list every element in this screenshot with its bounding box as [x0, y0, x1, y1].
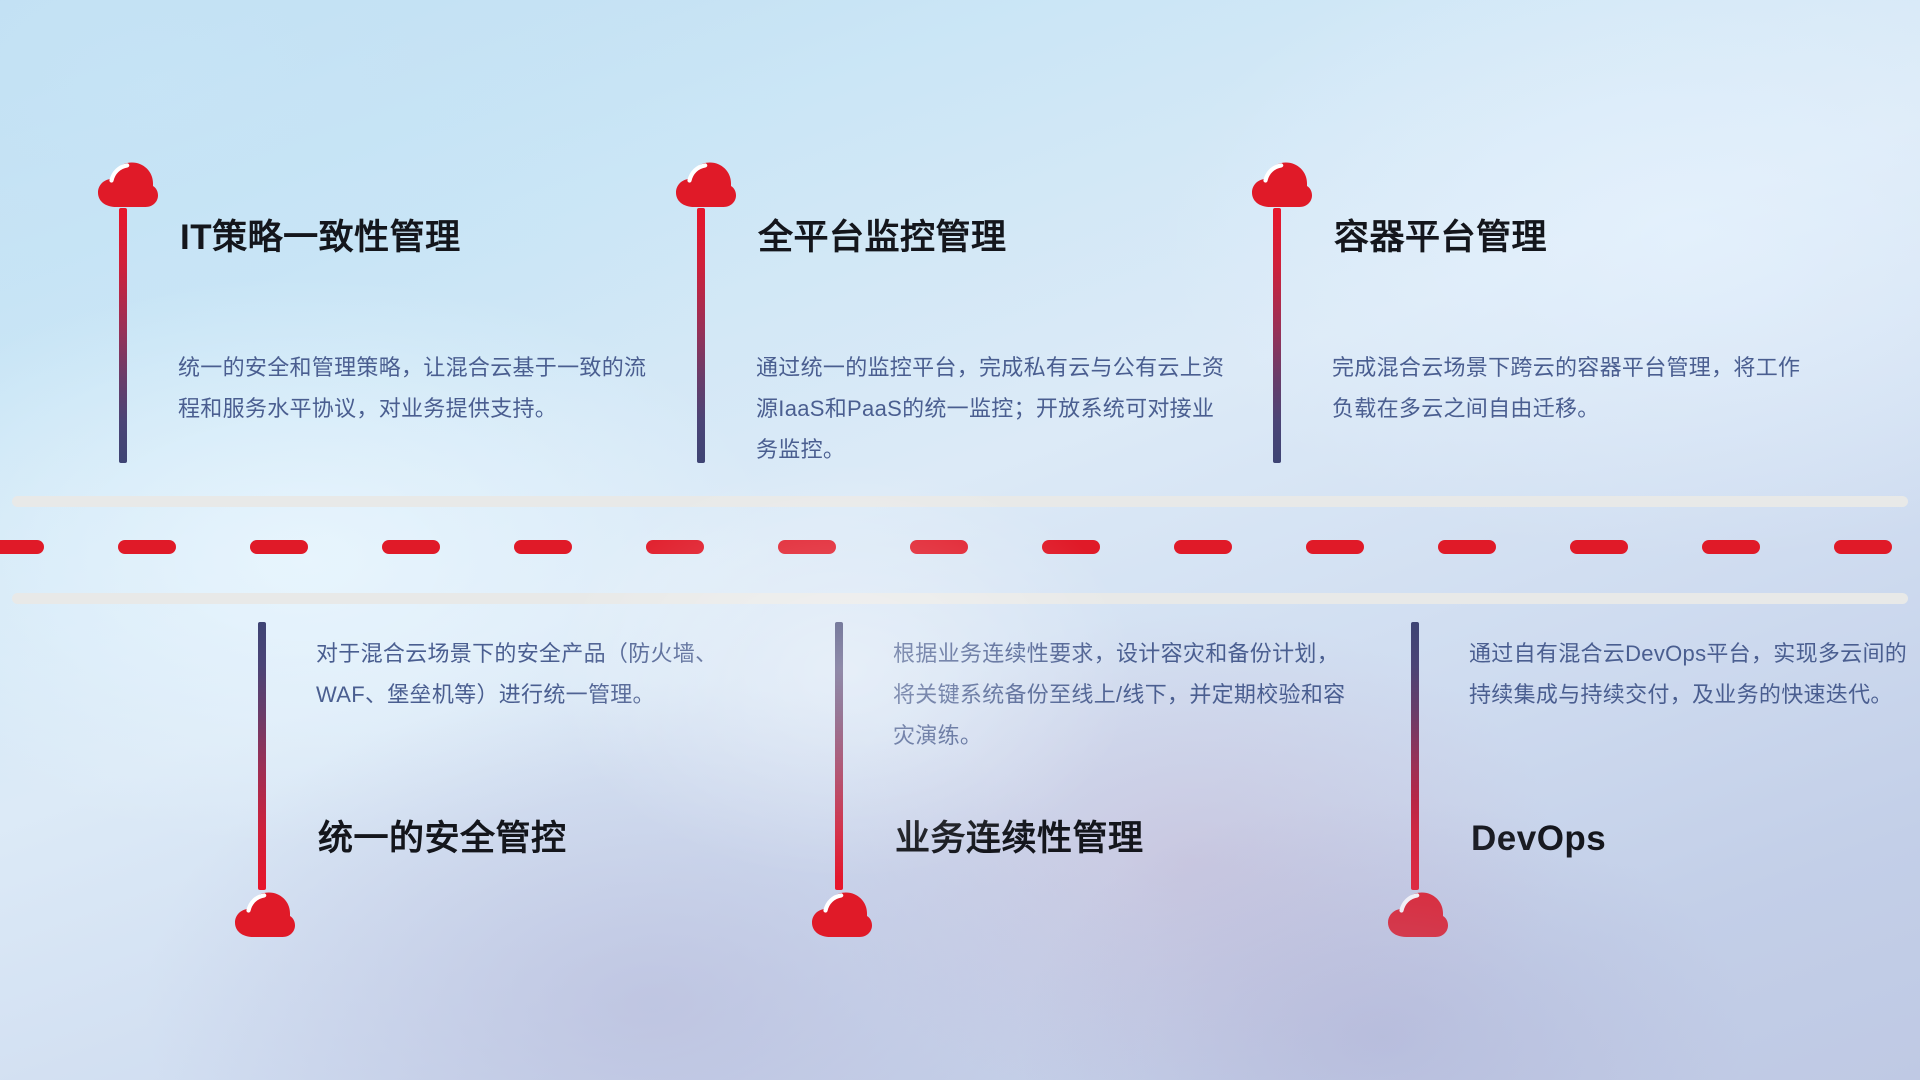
pin-stem — [1411, 622, 1419, 890]
top-heading-3: 容器平台管理 — [1334, 219, 1547, 258]
road-dash — [1306, 540, 1364, 554]
pin-stem — [697, 208, 705, 463]
bottom-heading-2: 业务连续性管理 — [895, 820, 1144, 859]
road-rail-top — [12, 496, 1908, 507]
pin-stem — [1273, 208, 1281, 463]
bottom-heading-1: 统一的安全管控 — [318, 820, 567, 859]
top-heading-1: IT策略一致性管理 — [180, 219, 461, 258]
pin-stem — [835, 622, 843, 890]
road-dash — [382, 540, 440, 554]
bottom-heading-3: DevOps — [1471, 820, 1606, 859]
road-dash — [250, 540, 308, 554]
road-dash — [1438, 540, 1496, 554]
cloud-icon — [1386, 890, 1450, 940]
road-dash — [1834, 540, 1892, 554]
road-dash — [910, 540, 968, 554]
cloud-icon — [674, 160, 738, 210]
road-rail-bottom — [12, 593, 1908, 604]
pin-stem — [119, 208, 127, 463]
bottom-body-1: 对于混合云场景下的安全产品（防火墙、WAF、堡垒机等）进行统一管理。 — [316, 633, 776, 715]
bottom-body-3: 通过自有混合云DevOps平台，实现多云间的持续集成与持续交付，及业务的快速迭代… — [1469, 633, 1920, 715]
cloud-icon — [1250, 160, 1314, 210]
road-dash — [1174, 540, 1232, 554]
cloud-icon — [96, 160, 160, 210]
road-dash — [646, 540, 704, 554]
top-body-2: 通过统一的监控平台，完成私有云与公有云上资源IaaS和PaaS的统一监控；开放系… — [756, 347, 1226, 470]
road-dash — [1042, 540, 1100, 554]
cloud-icon — [810, 890, 874, 940]
top-body-3: 完成混合云场景下跨云的容器平台管理，将工作负载在多云之间自由迁移。 — [1332, 347, 1802, 429]
road-dash — [1570, 540, 1628, 554]
road-dash — [118, 540, 176, 554]
infographic-canvas: IT策略一致性管理 统一的安全和管理策略，让混合云基于一致的流程和服务水平协议，… — [0, 0, 1920, 1080]
top-body-1: 统一的安全和管理策略，让混合云基于一致的流程和服务水平协议，对业务提供支持。 — [178, 347, 648, 429]
top-heading-2: 全平台监控管理 — [758, 219, 1007, 258]
road-dash — [778, 540, 836, 554]
pin-stem — [258, 622, 266, 890]
road-dash — [1702, 540, 1760, 554]
cloud-icon — [233, 890, 297, 940]
road-centerline — [0, 540, 1920, 554]
road-dash — [0, 540, 44, 554]
bottom-body-2: 根据业务连续性要求，设计容灾和备份计划，将关键系统备份至线上/线下，并定期校验和… — [893, 633, 1353, 756]
road-dash — [514, 540, 572, 554]
